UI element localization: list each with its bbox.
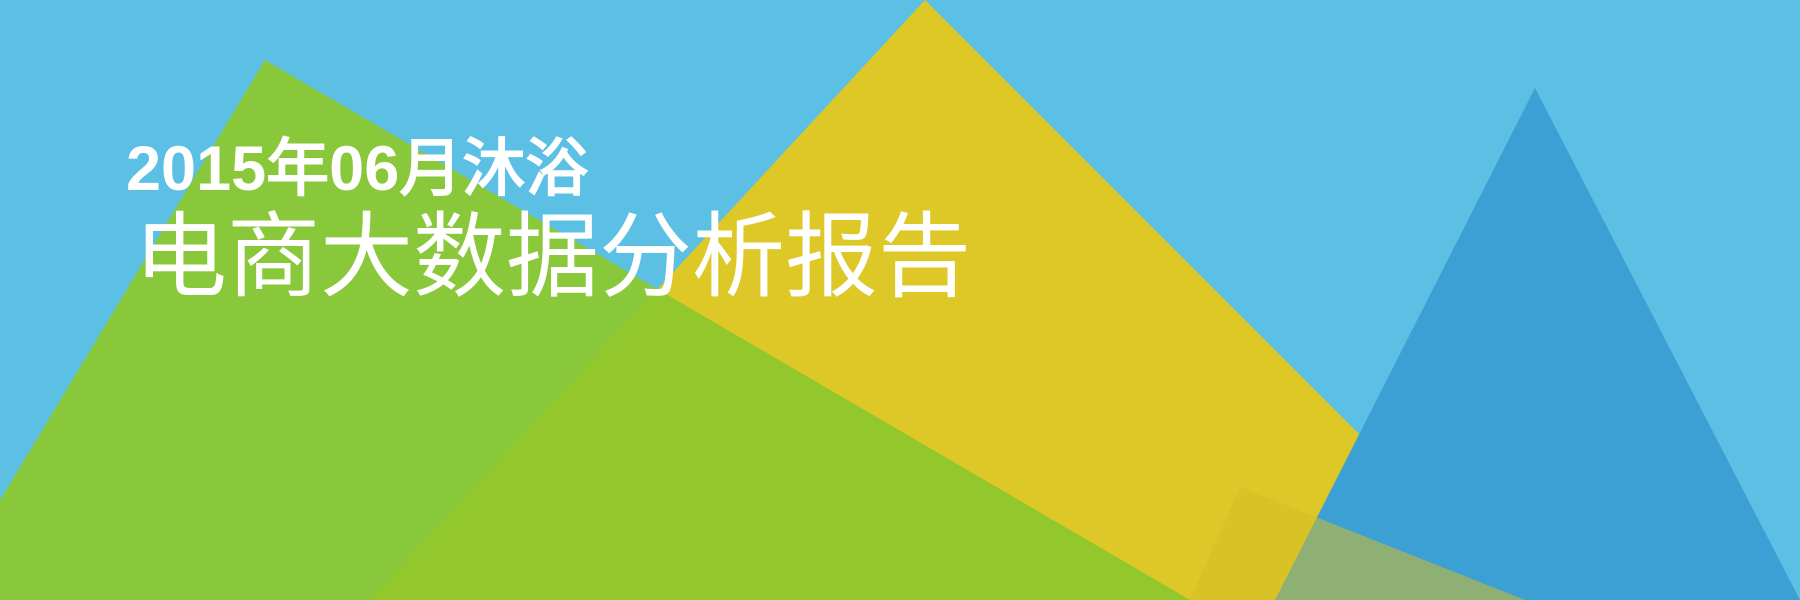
cover-banner: 2015年06月沐浴 电商大数据分析报告 — [0, 0, 1800, 600]
background-graphic — [0, 0, 1800, 600]
